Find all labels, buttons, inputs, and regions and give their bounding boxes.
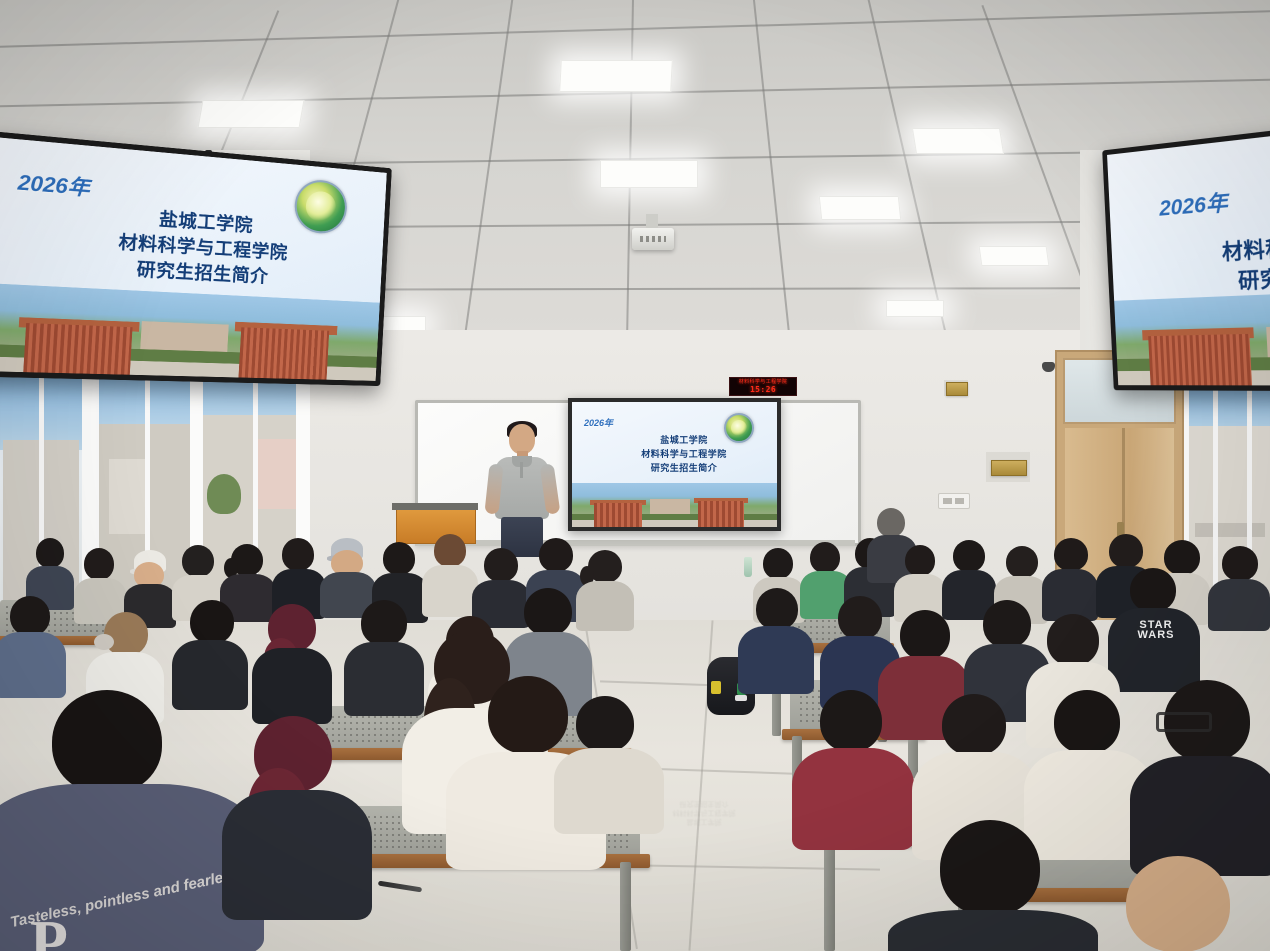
ceiling-light-panel xyxy=(886,300,944,317)
slide-year: 2026年 xyxy=(584,416,613,429)
shirt-monogram: P xyxy=(30,908,68,951)
ceiling-light-panel xyxy=(912,128,1004,154)
lecture-hall-photo: 2026年 盐城工学院 材料科学与工程学院 研究生招生简介 学院介绍丨招生宣传 … xyxy=(0,0,1270,951)
slide-title-line-3: 研究生招生简介 xyxy=(620,462,748,474)
ceiling-light-panel xyxy=(198,100,305,128)
audience-member xyxy=(348,600,418,706)
ceiling-projector xyxy=(632,228,674,250)
audience-member xyxy=(256,604,326,712)
ceiling-light-panel xyxy=(819,196,902,220)
shirt-line-2: WARS xyxy=(1126,630,1186,640)
led-message-board: 材料科学与工程学院 15:26 xyxy=(729,377,797,396)
audience-member xyxy=(744,588,808,686)
shirt-text-star-wars: STAR WARS xyxy=(1126,620,1186,641)
audience-member xyxy=(424,534,474,614)
power-outlet[interactable] xyxy=(938,493,970,509)
slide-right-tv: 2026年 材料科学与工程学院 研究生招生简介 学院介绍丨招生宣传 xyxy=(1107,126,1270,385)
lectern-top xyxy=(392,503,478,510)
head xyxy=(52,690,162,794)
wall-plaque xyxy=(991,460,1027,476)
presenter xyxy=(487,424,557,554)
audience-member xyxy=(1080,856,1270,951)
left-wall-tv: 2026年 盐城工学院 材料科学与工程学院 研究生招生简介 学院介绍丨招生宣传 xyxy=(0,130,392,386)
slide-year: 2026年 xyxy=(1158,186,1228,223)
audience-member-star-wars: STAR WARS xyxy=(1112,568,1194,688)
slide-title-line-2: 材料科学与工程学院 xyxy=(1221,224,1270,268)
water-bottle xyxy=(744,557,752,577)
slide-year: 2026年 xyxy=(17,166,91,201)
presenter-head xyxy=(509,424,535,454)
front-projection-screen: 2026年 盐城工学院 材料科学与工程学院 研究生招生简介 学院介绍丨招生宣传 xyxy=(568,398,781,531)
eyeglasses-icon xyxy=(1156,712,1212,732)
audience-member xyxy=(800,690,900,840)
slide-title-line-1: 盐城工学院 xyxy=(624,434,744,446)
audience-member xyxy=(1044,538,1096,616)
audience-member xyxy=(78,548,122,618)
slide-title-line-2: 材料科学与工程学院 xyxy=(614,448,754,460)
ceiling-light-panel xyxy=(559,60,673,92)
right-wall-tv: 2026年 材料科学与工程学院 研究生招生简介 学院介绍丨招生宣传 xyxy=(1102,120,1270,391)
audience-member-front-right xyxy=(1140,680,1270,860)
audience-member xyxy=(900,820,1080,951)
slide-main: 2026年 盐城工学院 材料科学与工程学院 研究生招生简介 学院介绍丨招生宣传 xyxy=(572,402,777,527)
whiteboard-tray xyxy=(415,540,855,546)
audience-member xyxy=(232,716,352,916)
audience-member-front-left: Tasteless, pointless and fearless P xyxy=(0,690,250,951)
ceiling-light-panel xyxy=(979,246,1050,266)
ceiling-light-panel xyxy=(600,160,698,188)
slide-left-tv: 2026年 盐城工学院 材料科学与工程学院 研究生招生简介 学院介绍丨招生宣传 xyxy=(0,137,387,381)
audience-member xyxy=(1210,546,1268,626)
audience-member xyxy=(896,545,944,619)
led-line-2: 15:26 xyxy=(750,385,776,394)
wall-plaque xyxy=(946,382,968,396)
audience-member xyxy=(178,600,242,700)
audience-member xyxy=(578,550,630,626)
audience-member xyxy=(560,696,652,826)
audience-member xyxy=(0,596,60,692)
hair-tie xyxy=(94,634,114,650)
